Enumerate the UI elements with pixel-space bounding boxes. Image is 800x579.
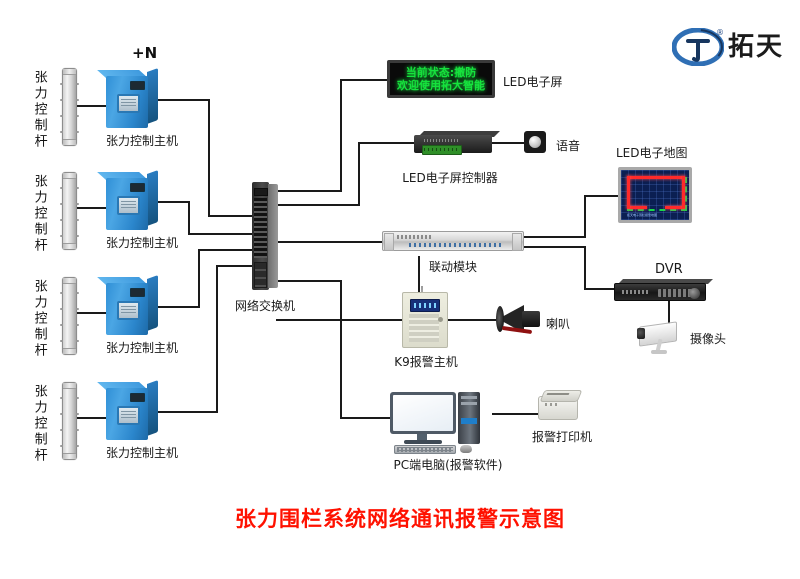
wire-trunk-ledscreen (340, 79, 388, 81)
led-electronic-map: 拓天电子围栏报警地图 (618, 167, 692, 223)
tension-control-host-label-2: 张力控制主机 (106, 234, 178, 251)
wire-linkage-right-bottom (524, 246, 586, 248)
wire-trunk-ledctrl-v (358, 143, 360, 205)
wire-host2-switch (188, 233, 256, 235)
tension-pole-label-3: 张力控制杆 (32, 279, 46, 359)
led-screen-line1: 当前状态:撤防 (406, 66, 476, 79)
led-screen-line2: 欢迎使用拓大智能 (397, 79, 485, 92)
tension-control-host-3 (106, 277, 158, 335)
host-indicator-panel (130, 183, 145, 192)
host-indicator-panel (130, 81, 145, 90)
wire-linkage-dvr-h (584, 288, 614, 290)
linkage-module (382, 231, 524, 251)
led-screen-controller-label: LED电子屏控制器 (402, 169, 498, 186)
wire-host1-switch (208, 215, 256, 217)
switch-ports-icon (254, 198, 267, 258)
tension-pole-label-1: 张力控制杆 (32, 70, 46, 150)
brand-name: 拓天 (728, 31, 784, 63)
tension-control-host-label-4: 张力控制主机 (106, 444, 178, 461)
alarm-printer-label: 报警打印机 (532, 428, 592, 445)
keyboard-icon (394, 445, 456, 454)
pc-workstation-label: PC端电脑(报警软件) (394, 456, 503, 473)
pc-tower-icon (458, 392, 480, 444)
wire-linkage-dvr-v (584, 246, 586, 290)
mouse-icon (460, 445, 472, 453)
wire-linkage-map-h (584, 195, 618, 197)
wire-switch-k9 (276, 319, 402, 321)
k9-alarm-host (402, 292, 448, 348)
wire-host2-down (188, 201, 190, 234)
wire-host3-right (156, 306, 200, 308)
camera-label: 摄像头 (690, 330, 726, 347)
tension-pole-1 (62, 68, 77, 146)
wire-pole3-host3 (75, 312, 108, 314)
wire-linkage-map-v (584, 196, 586, 238)
tension-pole-3 (62, 277, 77, 355)
led-map-caption: 拓天电子围栏报警地图 (627, 213, 657, 217)
linkage-module-indicators (409, 243, 501, 247)
wire-host3-switch (198, 249, 256, 251)
network-switch (252, 182, 278, 290)
horn-speaker-icon (498, 305, 542, 333)
tension-control-host-1 (106, 70, 158, 128)
host-lcd-icon (117, 301, 140, 320)
wire-linkage-right-top (524, 236, 586, 238)
led-display-screen-label: LED电子屏 (503, 73, 563, 90)
dvr-device (614, 279, 706, 301)
horn-label: 喇叭 (546, 315, 570, 332)
wire-host4-right (156, 411, 218, 413)
network-switch-label: 网络交换机 (235, 297, 295, 314)
terminal-block-icon (422, 145, 462, 155)
wire-pc-in (340, 417, 390, 419)
k9-lcd-icon (410, 299, 440, 312)
diagram-canvas: ® 拓天 (0, 0, 800, 579)
plus-n-label: +N (132, 44, 157, 62)
camera-icon (637, 322, 685, 356)
led-display-screen: 当前状态:撤防 欢迎使用拓大智能 (387, 60, 495, 98)
led-screen-controller (414, 131, 492, 155)
wire-switch-pc-v (340, 280, 342, 418)
tension-pole-4 (62, 382, 77, 460)
k9-keypad-icon (409, 314, 439, 342)
wire-pole2-host2 (75, 207, 108, 209)
tension-control-host-2 (106, 172, 158, 230)
wire-linkage-k9-v (418, 256, 420, 292)
wire-host1-right (156, 99, 210, 101)
linkage-module-label: 联动模块 (429, 258, 477, 275)
brand-logo: ® 拓天 (672, 28, 794, 68)
voice-label: 语音 (556, 137, 580, 154)
tension-pole-2 (62, 172, 77, 250)
wire-pole4-host4 (75, 417, 108, 419)
tension-control-host-4 (106, 382, 158, 440)
monitor-icon (390, 392, 456, 434)
dvr-label: DVR (655, 262, 683, 277)
wire-host4-switch (216, 265, 256, 267)
voice-speaker-icon (524, 131, 546, 153)
tension-pole-label-4: 张力控制杆 (32, 384, 46, 464)
tension-control-host-label-3: 张力控制主机 (106, 339, 178, 356)
tension-pole-label-2: 张力控制杆 (32, 174, 46, 254)
host-lcd-icon (117, 196, 140, 215)
pc-workstation (390, 392, 498, 452)
wire-host2-right (156, 201, 190, 203)
alarm-printer-icon (538, 388, 580, 420)
host-indicator-panel (130, 393, 145, 402)
host-lcd-icon (117, 94, 140, 113)
wire-host3-up (198, 250, 200, 308)
tension-control-host-label-1: 张力控制主机 (106, 132, 178, 149)
led-map-label: LED电子地图 (616, 144, 688, 161)
dvr-jog-dial-icon (689, 288, 700, 299)
wire-pole1-host1 (75, 105, 108, 107)
wire-switch-trunk-a (276, 190, 342, 192)
wire-switch-pc-h (276, 280, 342, 282)
wire-host1-down (208, 99, 210, 216)
wire-switch-linkage (276, 241, 382, 243)
wire-ledctrl-voice (492, 142, 524, 144)
host-lcd-icon (117, 406, 140, 425)
registered-mark: ® (716, 28, 724, 37)
wire-host4-up (216, 266, 218, 413)
wire-switch-ledctrl-h (276, 204, 360, 206)
host-indicator-panel (130, 288, 145, 297)
diagram-title: 张力围栏系统网络通讯报警示意图 (235, 503, 565, 533)
wire-k9-horn (448, 319, 498, 321)
dvr-front-buttons (658, 289, 692, 297)
wire-trunk-up (340, 80, 342, 192)
wire-ledctrl-in (358, 142, 414, 144)
k9-alarm-host-label: K9报警主机 (394, 353, 458, 370)
wire-pc-printer (492, 413, 538, 415)
